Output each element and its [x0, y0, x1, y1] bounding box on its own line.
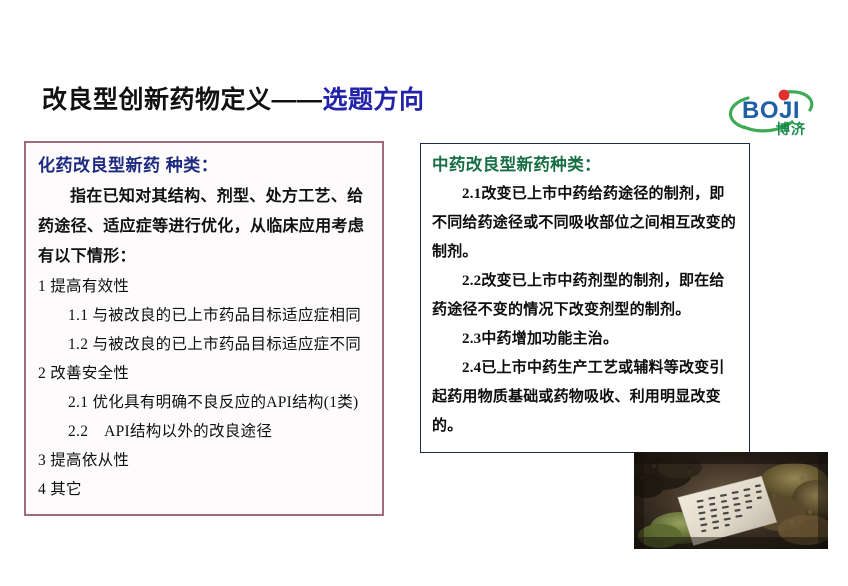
list-item: 3 提高依从性 — [38, 446, 370, 475]
tcm-drug-panel-heading: 中药改良型新药种类： — [432, 153, 738, 178]
list-item: 1.2 与被改良的已上市药品目标适应症不同 — [38, 330, 370, 359]
svg-text:BOJI: BOJI — [742, 97, 800, 124]
chemical-drug-panel-heading: 化药改良型新药 种类： — [38, 153, 370, 179]
chemical-drug-panel: 化药改良型新药 种类： 指在已知对其结构、剂型、处方工艺、给药途径、适应症等进行… — [24, 141, 384, 516]
slide-canvas: 改良型创新药物定义——选题方向 BOJI 博济 化药改良型新药 种类： 指在已知… — [0, 0, 848, 586]
tcm-drug-panel: 中药改良型新药种类： 2.1改变已上市中药给药途径的制剂，即不同给药途径或不同吸… — [420, 143, 750, 453]
tcm-paragraph: 2.1改变已上市中药给药途径的制剂，即不同给药途径或不同吸收部位之间相互改变的制… — [432, 180, 738, 267]
tcm-paragraph: 2.4已上市中药生产工艺或辅料等改变引起药用物质基础或药物吸收、利用明显改变的。 — [432, 354, 738, 441]
tcm-herbs-prescription-photo — [634, 452, 828, 549]
page-title: 改良型创新药物定义——选题方向 — [42, 85, 425, 115]
list-item: 4 其它 — [38, 475, 370, 504]
list-item: 2.1 优化具有明确不良反应的API结构(1类) — [38, 388, 370, 417]
list-item: 1.1 与被改良的已上市药品目标适应症相同 — [38, 301, 370, 330]
page-title-accent: 选题方向 — [323, 86, 425, 114]
tcm-paragraph: 2.2改变已上市中药剂型的制剂，即在给药途径不变的情况下改变剂型的制剂。 — [432, 267, 738, 325]
list-item: 2 改善安全性 — [38, 359, 370, 388]
page-title-main: 改良型创新药物定义 — [42, 86, 272, 114]
list-item: 2.2 API结构以外的改良途径 — [38, 417, 370, 446]
svg-text:博济: 博济 — [776, 121, 806, 137]
list-item: 1 提高有效性 — [38, 272, 370, 301]
tcm-paragraph: 2.3中药增加功能主治。 — [432, 325, 738, 354]
chemical-drug-intro-paragraph: 指在已知对其结构、剂型、处方工艺、给药途径、适应症等进行优化，从临床应用考虑有以… — [38, 182, 370, 272]
boji-logo: BOJI 博济 — [714, 86, 824, 138]
page-title-dash: —— — [272, 86, 323, 114]
